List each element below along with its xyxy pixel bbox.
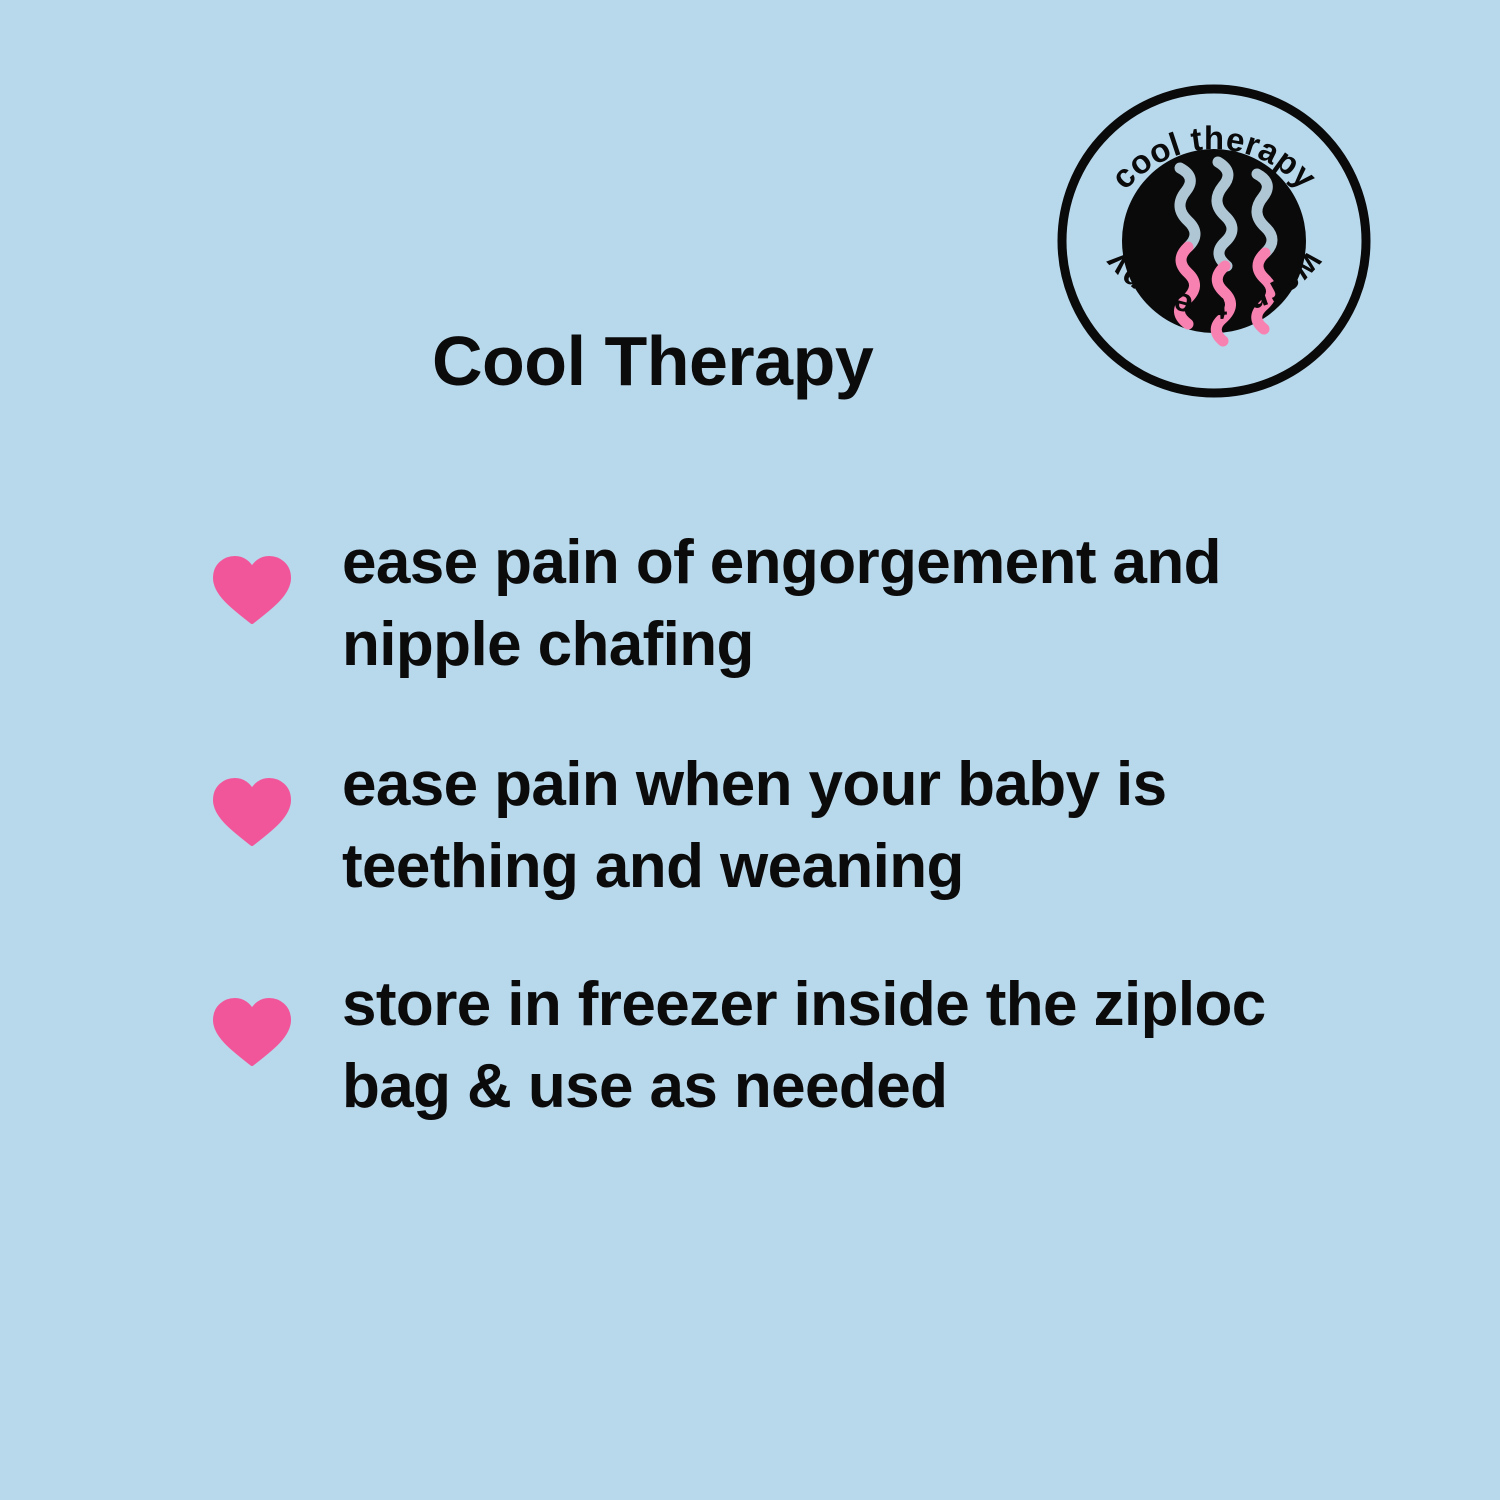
product-feature-card: cool therapy warm therapy Cool Therapy e… <box>0 0 1500 1500</box>
list-item: store in freezer inside the ziploc bag &… <box>210 964 1390 1154</box>
feature-list: ease pain of engorgement and nipple chaf… <box>210 500 1390 1154</box>
page-title: Cool Therapy <box>432 326 873 396</box>
list-item-label: store in freezer inside the ziploc bag &… <box>342 964 1342 1128</box>
list-item-label: ease pain of engorgement and nipple chaf… <box>342 522 1342 686</box>
list-item: ease pain of engorgement and nipple chaf… <box>210 522 1390 712</box>
list-item-label: ease pain when your baby is teething and… <box>342 744 1342 908</box>
heart-icon <box>212 998 292 1066</box>
heart-icon <box>212 778 292 846</box>
heart-icon <box>212 556 292 624</box>
list-item: ease pain when your baby is teething and… <box>210 744 1390 934</box>
cool-warm-therapy-seal: cool therapy warm therapy <box>1052 64 1376 418</box>
